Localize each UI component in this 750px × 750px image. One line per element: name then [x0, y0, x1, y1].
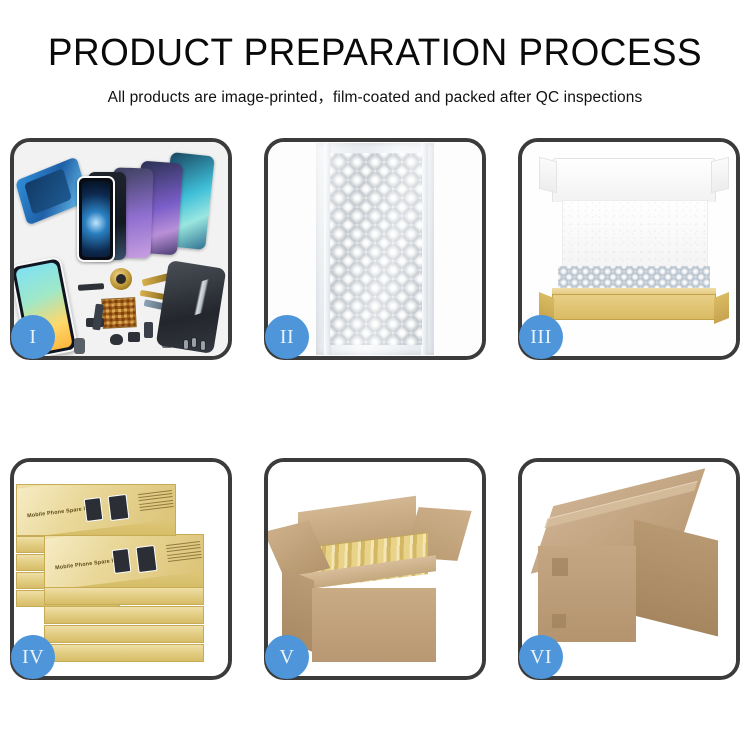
box-window-front-2: [135, 545, 157, 573]
page-subtitle: All products are image-printed，film-coat…: [0, 85, 750, 107]
screws-icon: [184, 338, 210, 350]
page-title: PRODUCT PREPARATION PROCESS: [11, 34, 739, 74]
carton-tab-upper: [552, 558, 568, 576]
process-step-card-5: V: [264, 458, 486, 680]
retail-box-r2: [44, 587, 204, 605]
process-step-card-4: Mobile Phone Spare Parts Mobile Phone Sp…: [10, 458, 232, 680]
wireless-coil-icon: [110, 268, 132, 290]
foam-sheet-icon: [562, 200, 708, 270]
step-badge-2: II: [265, 315, 309, 359]
part-icon-3: [110, 334, 123, 345]
retail-box-r3: [44, 606, 204, 624]
step-badge-6: VI: [519, 635, 563, 679]
product-preparation-infographic: PRODUCT PREPARATION PROCESS All products…: [0, 0, 750, 750]
step-badge-4: IV: [11, 635, 55, 679]
bubble-wrap-pouch-icon: [316, 143, 434, 355]
box-window-top-2: [108, 494, 130, 521]
part-icon-5: [144, 322, 153, 338]
carton-tab-lower: [552, 614, 566, 628]
box-window-top-1: [84, 497, 104, 522]
part-icon-4: [128, 332, 140, 342]
process-step-card-2: II: [264, 138, 486, 360]
bubble-grid: [330, 153, 422, 345]
step-badge-3: III: [519, 315, 563, 359]
carton-front-face: [312, 588, 436, 662]
box-window-front-1: [112, 548, 132, 574]
retail-box-printed-top: Mobile Phone Spare Parts: [16, 484, 176, 536]
chip-grid-icon: [101, 297, 137, 329]
retail-box-printed-front: Mobile Phone Spare Parts: [44, 534, 204, 588]
process-step-card-6: VI: [518, 458, 740, 680]
sealed-carton-right-face: [634, 520, 718, 637]
part-icon-6: [74, 338, 85, 354]
phone-front-glass-icon: [77, 176, 115, 262]
mailer-lid-icon: [552, 158, 716, 202]
process-step-card-3: III: [518, 138, 740, 360]
retail-box-r5: [44, 644, 204, 662]
part-icon-1: [78, 283, 104, 291]
pouch-seam-right: [421, 143, 428, 355]
mailer-box-front-icon: [552, 294, 716, 320]
process-step-grid: I II: [10, 138, 740, 680]
step-badge-1: I: [11, 315, 55, 359]
process-step-card-1: I: [10, 138, 232, 360]
step-badge-5: V: [265, 635, 309, 679]
page-header: PRODUCT PREPARATION PROCESS All products…: [0, 0, 750, 107]
retail-box-r4: [44, 625, 204, 643]
